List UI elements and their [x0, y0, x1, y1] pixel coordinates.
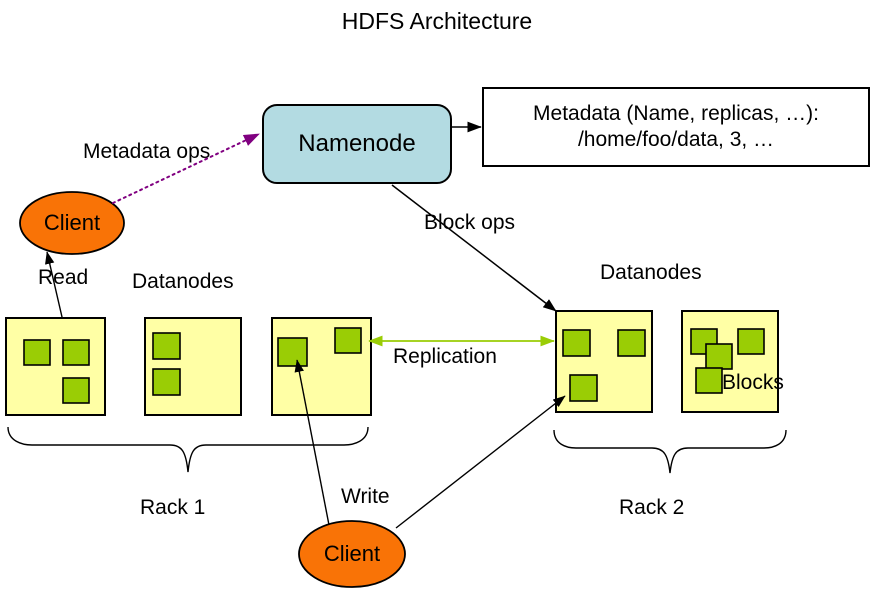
rack2-label: Rack 2 [619, 496, 684, 520]
rack1-datanode-1-block-2 [63, 340, 89, 365]
metadata-ops-label: Metadata ops [83, 140, 210, 164]
client-bottom-label: Client [299, 521, 405, 587]
rack2-datanode-2-block-2 [738, 329, 764, 354]
rack1-datanode-1[interactable] [6, 318, 105, 415]
datanodes-left-label: Datanodes [132, 270, 234, 294]
rack2-datanode-2-block-3 [706, 344, 732, 369]
block-ops-label: Block ops [424, 211, 515, 235]
datanodes-right-label: Datanodes [600, 261, 702, 285]
metadata-line-1: Metadata (Name, replicas, …): [533, 101, 819, 127]
blocks-label: Blocks [722, 371, 784, 395]
replication-label: Replication [393, 345, 497, 369]
rack2-datanode-1-block-3 [570, 375, 597, 401]
rack1-datanode-2-block-2 [153, 369, 180, 395]
rack1-datanode-1-block-1 [24, 340, 50, 365]
metadata-line-2: /home/foo/data, 3, … [578, 127, 774, 153]
page-title: HDFS Architecture [0, 8, 874, 34]
rack2-datanode-1-block-1 [563, 330, 590, 356]
rack1-datanode-2-block-1 [153, 333, 180, 359]
hdfs-architecture-diagram: HDFS Architecture Namenode Metadata (Nam… [0, 0, 874, 604]
rack2-datanode-1-block-2 [618, 330, 645, 356]
rack1-datanode-3-block-1 [278, 338, 307, 366]
client-top-label: Client [20, 192, 124, 254]
namenode-label: Namenode [263, 105, 451, 183]
rack2-datanode-2-block-4 [696, 368, 722, 393]
rack1-label: Rack 1 [140, 496, 205, 520]
read-label: Read [38, 266, 88, 290]
rack1-datanode-3-block-2 [335, 328, 361, 353]
block-ops-arrow [392, 185, 556, 311]
write-label: Write [341, 485, 390, 509]
rack1-datanode-1-block-3 [63, 378, 89, 403]
metadata-box-text: Metadata (Name, replicas, …): /home/foo/… [483, 88, 869, 166]
rack2-brace [554, 430, 786, 473]
write-to-rack2-arrow [396, 396, 565, 528]
